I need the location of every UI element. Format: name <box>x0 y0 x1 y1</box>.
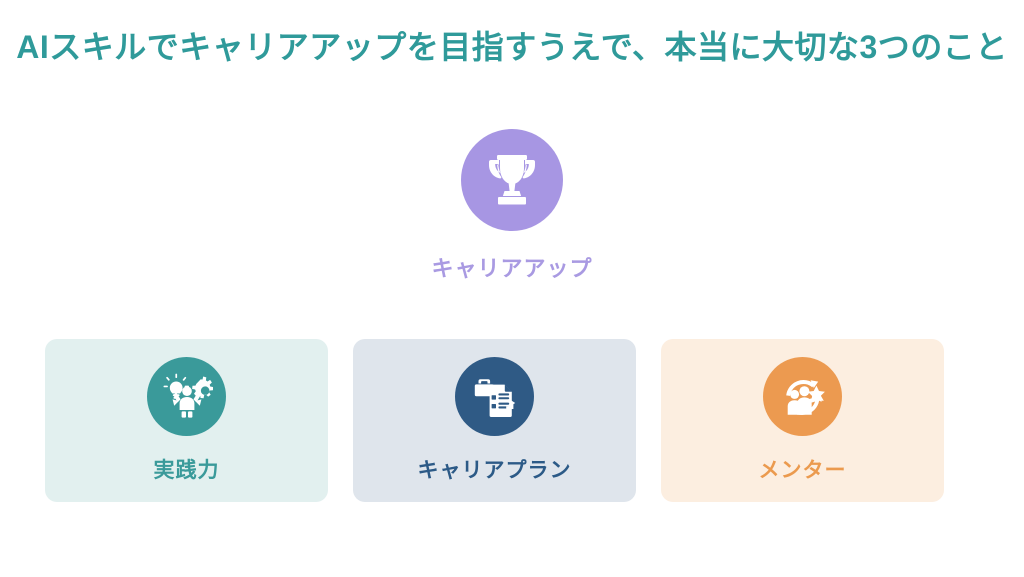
practical-skill-icon <box>161 371 213 423</box>
trophy-icon <box>482 151 542 209</box>
career-plan-document-icon <box>469 371 521 423</box>
pillar-card-practical-skill[interactable]: 実践力 <box>45 339 328 502</box>
pillar-label: キャリアプラン <box>418 454 572 484</box>
page-title: AIスキルでキャリアアップを目指すうえで、本当に大切な3つのこと <box>0 22 1024 68</box>
slide-canvas: AIスキルでキャリアアップを目指すうえで、本当に大切な3つのこと <box>0 0 1024 577</box>
pillar-label: メンター <box>759 454 847 484</box>
pillar-icon-circle <box>455 357 534 436</box>
goal-label: キャリアアップ <box>431 251 592 283</box>
goal-node: キャリアアップ <box>0 129 1024 283</box>
pillar-label: 実践力 <box>154 454 220 484</box>
pillar-card-row: 実践力 <box>45 339 944 502</box>
goal-icon-circle <box>461 129 563 231</box>
pillar-card-career-plan[interactable]: キャリアプラン <box>353 339 636 502</box>
pillar-icon-circle <box>147 357 226 436</box>
pillar-card-mentor[interactable]: メンター <box>661 339 944 502</box>
mentor-people-icon <box>777 371 829 423</box>
pillar-icon-circle <box>763 357 842 436</box>
